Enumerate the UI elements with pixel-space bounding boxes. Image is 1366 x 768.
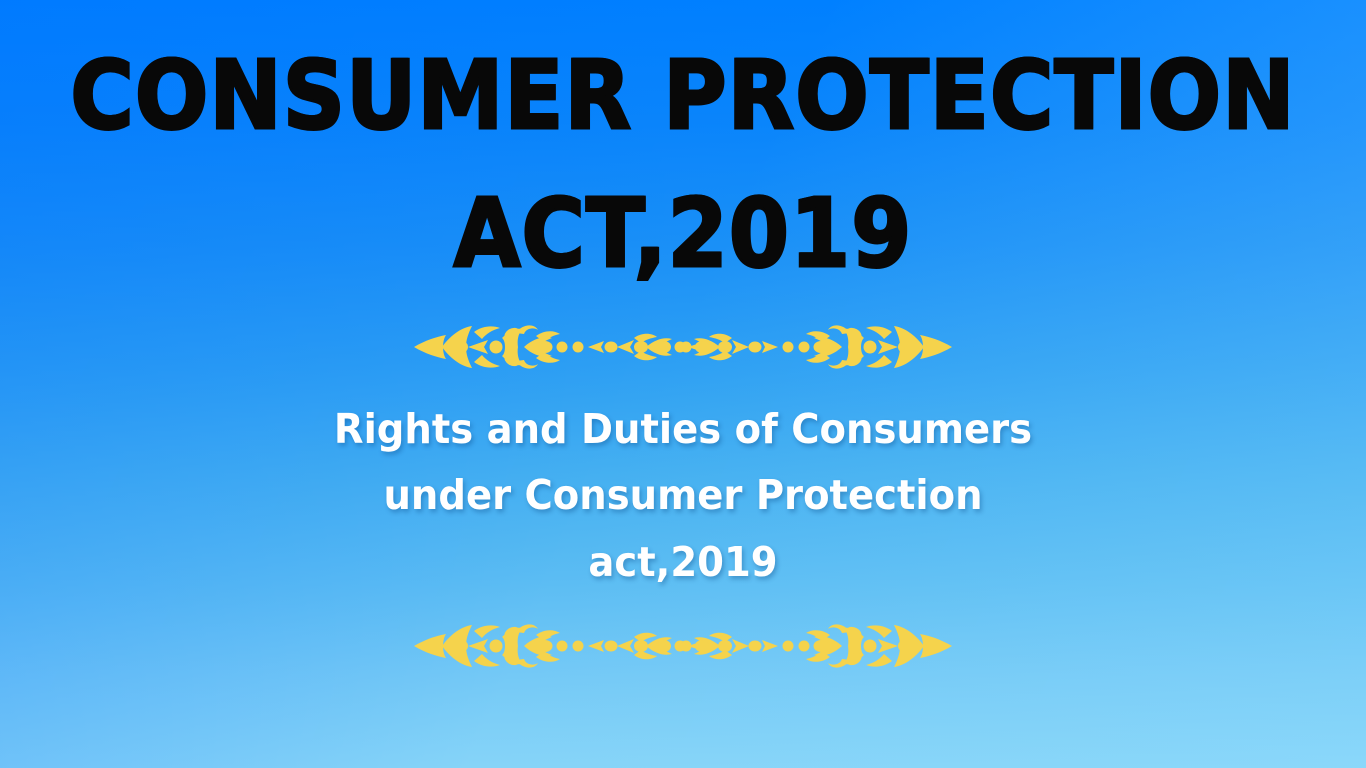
page-title-line-2: ACT,2019 [0, 187, 1366, 281]
subtitle-line-2: under Consumer Protection [298, 462, 1069, 528]
title-block: CONSUMER PROTECTION ACT,2019 [0, 56, 1366, 274]
flourish-right-half [681, 625, 953, 668]
flourish-right-half [681, 325, 953, 368]
flourish-left-half [414, 625, 686, 668]
flourish-divider-top-icon [412, 324, 954, 370]
flourish-center-darts [666, 343, 700, 351]
flourish-left-half [414, 325, 686, 368]
presentation-slide: CONSUMER PROTECTION ACT,2019 [0, 0, 1366, 768]
subtitle-block: Rights and Duties of Consumers under Con… [298, 396, 1069, 595]
subtitle-line-1: Rights and Duties of Consumers [298, 396, 1069, 462]
subtitle-line-3: act,2019 [298, 529, 1069, 595]
page-title-line-1: CONSUMER PROTECTION [0, 49, 1366, 143]
flourish-divider-bottom-icon [412, 623, 954, 669]
